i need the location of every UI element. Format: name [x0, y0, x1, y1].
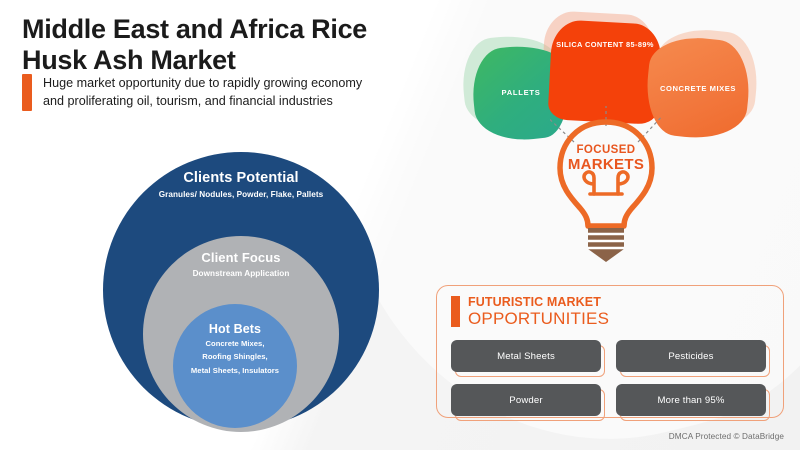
opportunity-cell: Pesticides — [618, 342, 769, 376]
opportunity-item-powder[interactable]: Powder — [451, 384, 601, 416]
opportunity-cell: Powder — [453, 386, 604, 420]
footer-copyright: DMCA Protected © DataBridge — [669, 432, 784, 441]
subtitle-block: Huge market opportunity due to rapidly g… — [22, 74, 382, 111]
blob-label-concrete-mixes: CONCRETE MIXES — [647, 84, 749, 93]
opportunity-item-pesticides[interactable]: Pesticides — [616, 340, 766, 372]
ring-outer-subtitle: Granules/ Nodules, Powder, Flake, Pallet… — [159, 189, 324, 200]
ring-middle-subtitle: Downstream Application — [193, 268, 290, 279]
panel-heading-line-1: FUTURISTIC MARKET — [468, 296, 609, 310]
ring-outer-title: Clients Potential — [183, 170, 298, 186]
clients-potential-diagram: Clients Potential Granules/ Nodules, Pow… — [103, 152, 379, 428]
panel-heading: FUTURISTIC MARKET OPPORTUNITIES — [451, 296, 609, 327]
blob-label-pallets: PALLETS — [473, 88, 569, 97]
ring-inner-title: Hot Bets — [209, 322, 261, 336]
page-title: Middle East and Africa Rice Husk Ash Mar… — [22, 14, 422, 77]
opportunity-cell: Metal Sheets — [453, 342, 604, 376]
futuristic-opportunities-panel: FUTURISTIC MARKET OPPORTUNITIES Metal Sh… — [436, 285, 784, 418]
opportunity-cell: More than 95% — [618, 386, 769, 420]
focused-markets-diagram: PALLETS SILICA CONTENT 85-89% CONCRETE M… — [455, 8, 800, 273]
panel-heading-line-2: OPPORTUNITIES — [468, 310, 609, 328]
lightbulb-icon — [550, 106, 662, 268]
opportunities-grid: Metal Sheets Pesticides Powder More than… — [453, 342, 769, 420]
opportunity-item-more-than-95[interactable]: More than 95% — [616, 384, 766, 416]
panel-accent-bar — [451, 296, 460, 327]
ring-inner-subtitle-line-3: Metal Sheets, Insulators — [191, 366, 279, 376]
opportunity-item-metal-sheets[interactable]: Metal Sheets — [451, 340, 601, 372]
ring-hot-bets: Hot Bets Concrete Mixes, Roofing Shingle… — [173, 304, 297, 428]
slide-canvas: Middle East and Africa Rice Husk Ash Mar… — [0, 0, 800, 450]
subtitle-accent-bar — [22, 74, 32, 111]
ring-inner-subtitle-line-2: Roofing Shingles, — [202, 352, 267, 362]
subtitle-text: Huge market opportunity due to rapidly g… — [43, 74, 382, 111]
ring-inner-subtitle-line-1: Concrete Mixes, — [206, 339, 265, 349]
blob-label-silica-content: SILICA CONTENT 85-89% — [550, 40, 660, 49]
ring-middle-title: Client Focus — [201, 250, 280, 265]
